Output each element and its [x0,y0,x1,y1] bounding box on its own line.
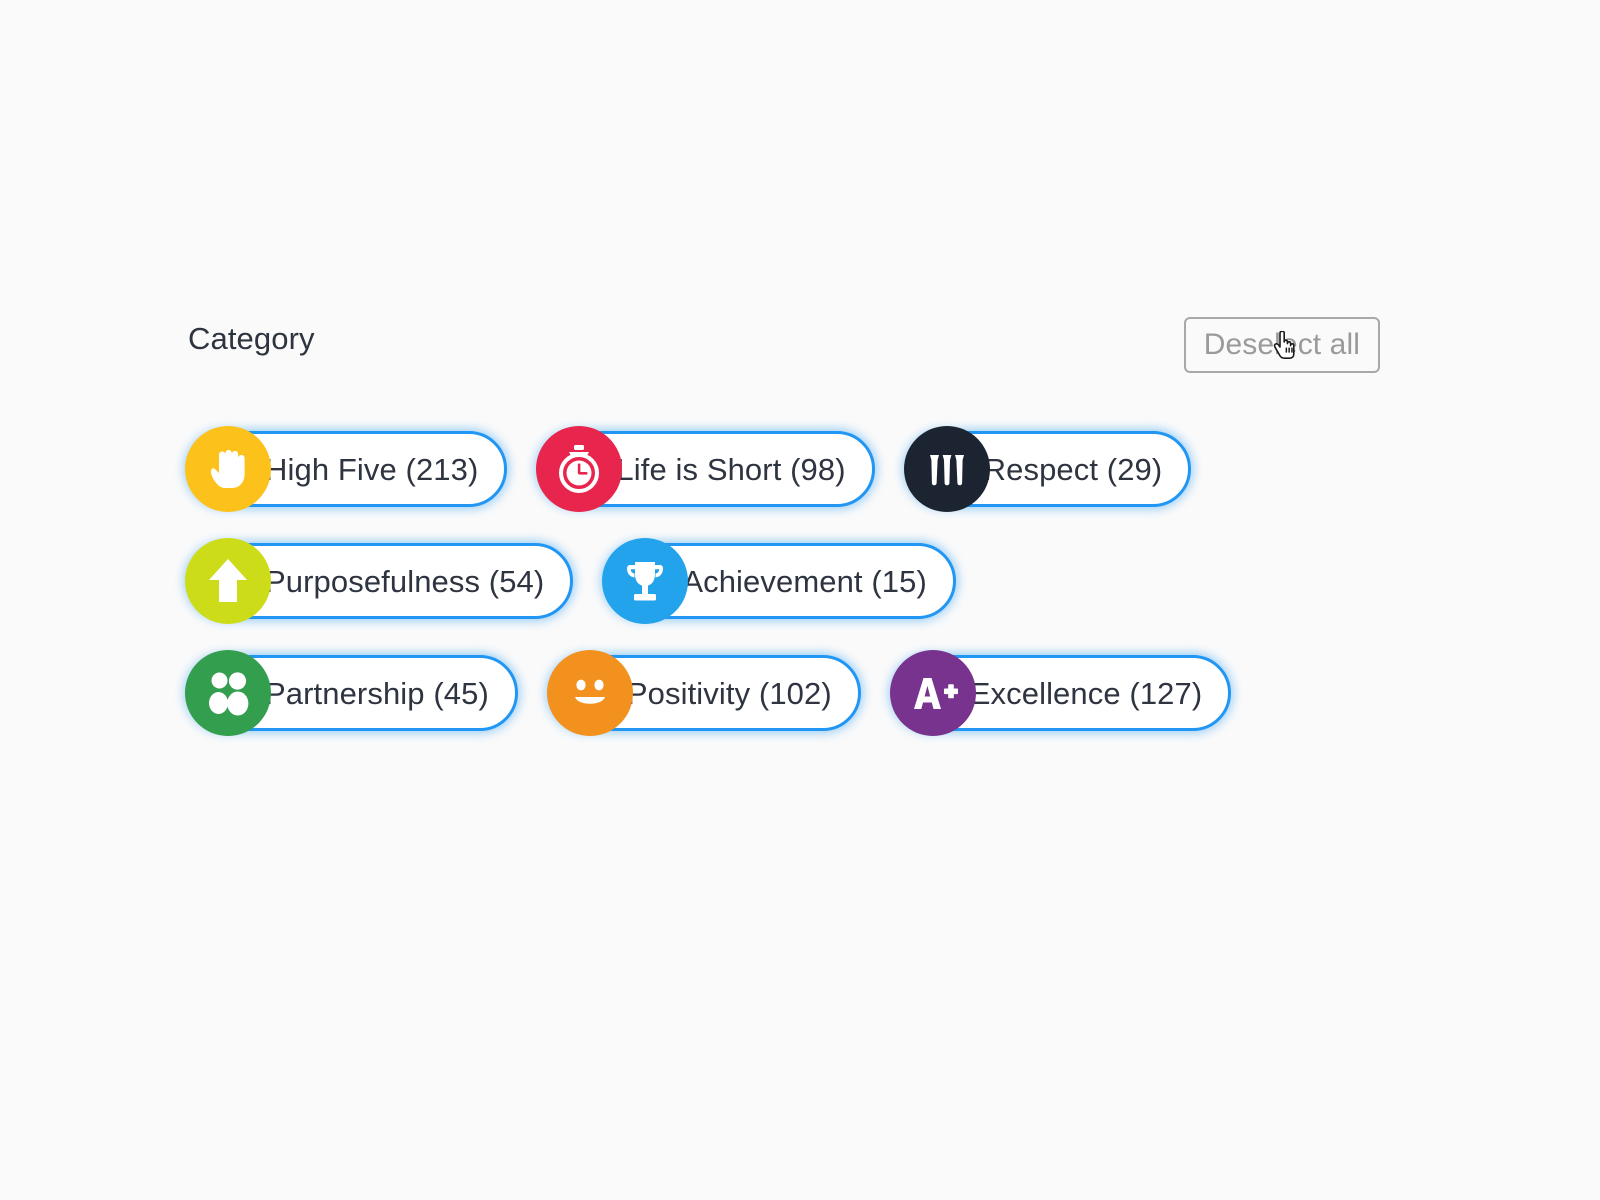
category-chip-row: Purposefulness (54) Achievement (15) [186,525,1386,637]
category-chip-label: Positivity (102) [627,678,832,709]
category-chip-row: High Five (213) Life is Short (98) Respe… [186,413,1386,525]
category-chip-positivity[interactable]: Positivity (102) [548,655,861,731]
category-chip-label: High Five (213) [265,454,478,485]
stopwatch-icon [536,426,622,512]
category-chip-label: Excellence (127) [970,678,1203,709]
trophy-icon [602,538,688,624]
category-chip-label: Life is Short (98) [616,454,845,485]
a-plus-icon [890,650,976,736]
smiley-icon [547,650,633,736]
category-chip-purposefulness[interactable]: Purposefulness (54) [186,543,573,619]
category-chip-respect[interactable]: Respect (29) [905,431,1192,507]
category-chip-row: Partnership (45) Positivity (102) Excell… [186,637,1386,749]
panel-header: Category Deselect all [186,305,1386,383]
people-icon [185,650,271,736]
up-arrow-icon [185,538,271,624]
category-chip-partnership[interactable]: Partnership (45) [186,655,518,731]
category-chip-label: Purposefulness (54) [265,566,544,597]
category-chip-label: Partnership (45) [265,678,489,709]
category-chip-label: Respect (29) [984,454,1163,485]
category-chip-high-five[interactable]: High Five (213) [186,431,507,507]
hand-icon [185,426,271,512]
page-title: Category [188,323,315,354]
crown-icon [904,426,990,512]
category-chip-excellence[interactable]: Excellence (127) [891,655,1232,731]
deselect-all-button[interactable]: Deselect all [1184,317,1380,373]
category-chip-label: Achievement (15) [682,566,927,597]
category-chip-life-is-short[interactable]: Life is Short (98) [537,431,874,507]
category-chip-list: High Five (213) Life is Short (98) Respe… [186,413,1386,749]
category-chip-achievement[interactable]: Achievement (15) [603,543,956,619]
category-filter-panel: Category Deselect all High Five (213) Li… [186,305,1386,383]
